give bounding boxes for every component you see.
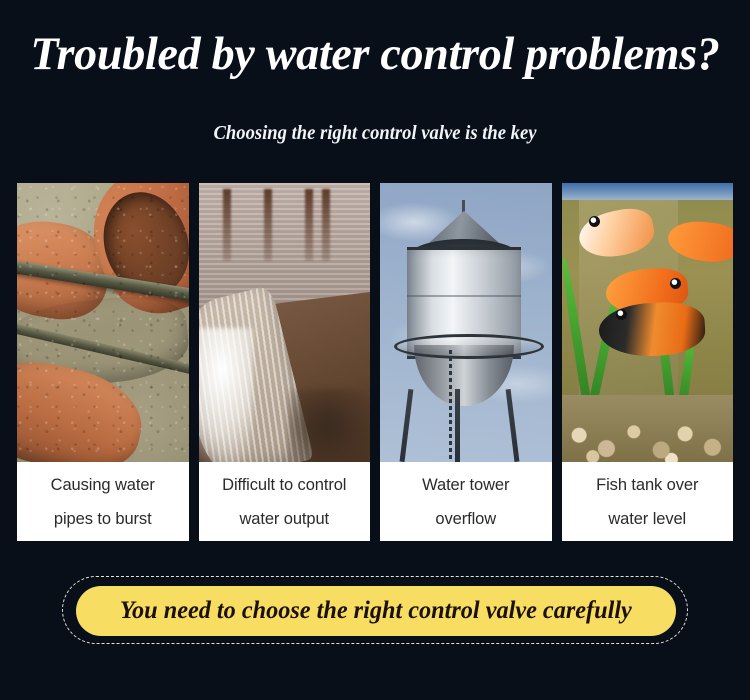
page-subtitle: Choosing the right control valve is the … — [26, 120, 724, 146]
fish-eye-shape — [670, 278, 681, 289]
problem-card-pipes: Causing water pipes to burst — [17, 183, 189, 541]
reflection-post-shape — [264, 189, 272, 262]
fish-eye-shape — [616, 309, 627, 320]
caption-line-1: Fish tank over — [596, 474, 698, 496]
cta-label: You need to choose the right control val… — [120, 597, 632, 625]
tower-catwalk-shape — [394, 334, 544, 360]
reflection-post-shape — [305, 189, 313, 262]
gravel-shape — [562, 395, 734, 462]
shadow-shape — [288, 389, 370, 462]
page-title: Troubled by water control problems? — [8, 26, 743, 82]
goldfish-aquarium-photo — [562, 183, 734, 462]
tank-rim-shape — [562, 183, 734, 200]
tower-leg-shape — [455, 389, 460, 462]
weir-scene — [199, 183, 371, 462]
caption-line-1: Causing water — [51, 474, 155, 496]
reflection-post-shape — [223, 189, 231, 262]
caption-line-1: Difficult to control — [222, 474, 346, 496]
tower-ladder-shape — [449, 350, 452, 462]
caption-line-2: water level — [608, 508, 686, 530]
caption-line-2: pipes to burst — [54, 508, 152, 530]
tower-scene — [380, 183, 552, 462]
problem-card-water-tower: Water tower overflow — [380, 183, 552, 541]
cta-dashed-outline: You need to choose the right control val… — [62, 576, 688, 644]
foam-shape — [199, 328, 254, 462]
problem-card-water-output: Difficult to control water output — [199, 183, 371, 541]
aquarium-scene — [562, 183, 734, 462]
promo-banner: Troubled by water control problems? Choo… — [0, 0, 750, 700]
card-caption: Water tower overflow — [380, 462, 552, 541]
card-caption: Fish tank over water level — [562, 462, 734, 541]
pipes-scene — [17, 183, 189, 462]
card-caption: Causing water pipes to burst — [17, 462, 189, 541]
caption-line-2: overflow — [435, 508, 496, 530]
water-tower-photo — [380, 183, 552, 462]
problem-card-list: Causing water pipes to burst — [17, 183, 733, 541]
broken-clay-pipes-photo — [17, 183, 189, 462]
reflection-post-shape — [322, 189, 330, 262]
problem-card-fish-tank: Fish tank over water level — [562, 183, 734, 541]
caption-line-2: water output — [239, 508, 329, 530]
overflowing-muddy-water-weir-photo — [199, 183, 371, 462]
caption-line-1: Water tower — [422, 474, 509, 496]
cta-button[interactable]: You need to choose the right control val… — [76, 586, 676, 636]
sand-texture — [17, 183, 189, 462]
card-caption: Difficult to control water output — [199, 462, 371, 541]
